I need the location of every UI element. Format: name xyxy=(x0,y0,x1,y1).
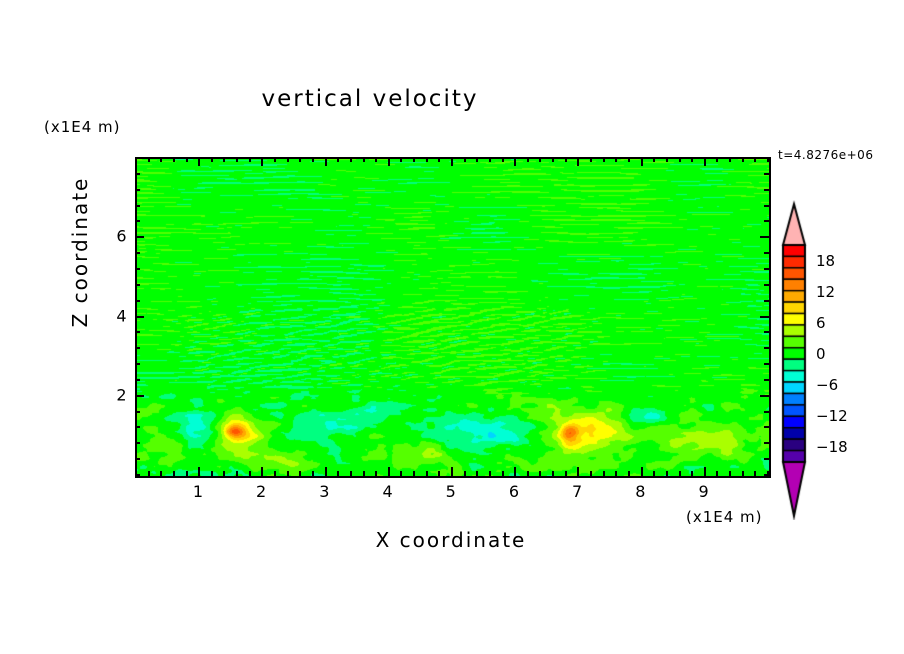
x-major-tick-top xyxy=(261,157,263,166)
x-tick-label: 9 xyxy=(698,482,709,501)
x-tick-label: 2 xyxy=(256,482,267,501)
colorbar-tick-label: 18 xyxy=(816,252,835,270)
x-minor-tick-top xyxy=(615,157,617,162)
x-minor-tick xyxy=(615,471,617,476)
x-minor-tick xyxy=(590,471,592,476)
x-tick-label: 7 xyxy=(572,482,583,501)
y-minor-tick-right xyxy=(764,458,769,460)
x-minor-tick-top xyxy=(653,157,655,162)
x-minor-tick-top xyxy=(223,157,225,162)
y-minor-tick-right xyxy=(764,252,769,254)
page-title: vertical velocity xyxy=(0,86,740,112)
x-major-tick xyxy=(261,467,263,476)
colorbar-tick-label: −6 xyxy=(816,376,838,394)
colorbar-tick-label: 0 xyxy=(816,345,826,363)
x-minor-tick xyxy=(173,471,175,476)
y-minor-tick-right xyxy=(764,426,769,428)
y-minor-tick xyxy=(135,347,140,349)
x-major-tick-top xyxy=(704,157,706,166)
y-minor-tick xyxy=(135,442,140,444)
x-minor-tick xyxy=(363,471,365,476)
plot-area[interactable] xyxy=(135,157,771,478)
y-minor-tick-right xyxy=(764,189,769,191)
x-major-tick xyxy=(704,467,706,476)
x-major-tick xyxy=(641,467,643,476)
x-tick-label: 1 xyxy=(193,482,204,501)
colorbar-gradient xyxy=(780,200,810,520)
x-minor-tick xyxy=(691,471,693,476)
colorbar-tick-label: −12 xyxy=(816,407,848,425)
x-minor-tick-top xyxy=(438,157,440,162)
x-minor-tick-top xyxy=(236,157,238,162)
x-major-tick xyxy=(388,467,390,476)
x-minor-tick xyxy=(148,471,150,476)
y-major-tick xyxy=(135,395,144,397)
y-minor-tick xyxy=(135,268,140,270)
y-major-tick-right xyxy=(760,236,769,238)
x-minor-tick xyxy=(552,471,554,476)
x-minor-tick xyxy=(742,471,744,476)
y-minor-tick xyxy=(135,173,140,175)
x-minor-tick xyxy=(400,471,402,476)
y-minor-tick xyxy=(135,220,140,222)
x-minor-tick xyxy=(729,471,731,476)
x-minor-tick-top xyxy=(691,157,693,162)
y-minor-tick-right xyxy=(764,205,769,207)
y-minor-tick-right xyxy=(764,268,769,270)
y-minor-tick-right xyxy=(764,300,769,302)
y-minor-tick xyxy=(135,426,140,428)
x-major-tick xyxy=(198,467,200,476)
x-minor-tick-top xyxy=(375,157,377,162)
y-minor-tick xyxy=(135,363,140,365)
y-major-tick xyxy=(135,236,144,238)
x-minor-tick xyxy=(666,471,668,476)
x-minor-tick-top xyxy=(716,157,718,162)
x-minor-tick-top xyxy=(274,157,276,162)
x-minor-tick-top xyxy=(502,157,504,162)
x-minor-tick xyxy=(413,471,415,476)
x-minor-tick xyxy=(603,471,605,476)
x-minor-tick-top xyxy=(552,157,554,162)
x-minor-tick-top xyxy=(628,157,630,162)
x-axis-title: X coordinate xyxy=(135,528,767,552)
x-minor-tick xyxy=(312,471,314,476)
time-annotation: t=4.8276e+06 xyxy=(778,148,873,162)
x-minor-tick xyxy=(754,471,756,476)
y-tick-label: 6 xyxy=(103,227,127,246)
x-minor-tick xyxy=(160,471,162,476)
x-minor-tick xyxy=(287,471,289,476)
y-minor-tick xyxy=(135,157,140,159)
x-minor-tick xyxy=(299,471,301,476)
y-minor-tick-right xyxy=(764,284,769,286)
x-minor-tick-top xyxy=(729,157,731,162)
x-minor-tick xyxy=(653,471,655,476)
x-minor-tick-top xyxy=(400,157,402,162)
x-tick-label: 3 xyxy=(319,482,330,501)
x-minor-tick-top xyxy=(426,157,428,162)
colorbar-tick-label: 12 xyxy=(816,283,835,301)
x-minor-tick xyxy=(489,471,491,476)
x-minor-tick-top xyxy=(565,157,567,162)
x-major-tick xyxy=(451,467,453,476)
x-minor-tick xyxy=(628,471,630,476)
y-major-tick-right xyxy=(760,395,769,397)
x-tick-label: 4 xyxy=(382,482,393,501)
x-minor-tick xyxy=(249,471,251,476)
x-minor-tick xyxy=(476,471,478,476)
x-minor-tick xyxy=(186,471,188,476)
x-minor-tick xyxy=(502,471,504,476)
x-minor-tick xyxy=(223,471,225,476)
y-major-tick-right xyxy=(760,316,769,318)
x-major-tick-top xyxy=(577,157,579,166)
y-minor-tick xyxy=(135,284,140,286)
x-minor-tick-top xyxy=(287,157,289,162)
y-minor-tick xyxy=(135,205,140,207)
x-minor-tick-top xyxy=(489,157,491,162)
x-minor-tick-top xyxy=(173,157,175,162)
y-minor-tick-right xyxy=(764,442,769,444)
x-tick-label: 8 xyxy=(635,482,646,501)
x-major-tick-top xyxy=(451,157,453,166)
y-minor-tick-right xyxy=(764,173,769,175)
x-minor-tick xyxy=(438,471,440,476)
x-minor-tick-top xyxy=(249,157,251,162)
y-minor-tick xyxy=(135,300,140,302)
x-minor-tick xyxy=(337,471,339,476)
x-minor-tick xyxy=(375,471,377,476)
y-minor-tick-right xyxy=(764,411,769,413)
y-minor-tick xyxy=(135,252,140,254)
x-major-tick-top xyxy=(641,157,643,166)
y-tick-label: 4 xyxy=(103,306,127,325)
x-minor-tick-top xyxy=(148,157,150,162)
x-minor-tick-top xyxy=(603,157,605,162)
x-minor-tick-top xyxy=(350,157,352,162)
x-minor-tick xyxy=(539,471,541,476)
x-minor-tick-top xyxy=(312,157,314,162)
y-axis-title: Z coordinate xyxy=(68,142,92,362)
x-major-tick xyxy=(577,467,579,476)
x-minor-tick-top xyxy=(413,157,415,162)
x-minor-tick-top xyxy=(754,157,756,162)
y-tick-label: 2 xyxy=(103,385,127,404)
x-major-tick xyxy=(514,467,516,476)
y-minor-tick-right xyxy=(764,474,769,476)
colorbar-tick-label: 6 xyxy=(816,314,826,332)
y-minor-tick xyxy=(135,379,140,381)
x-minor-tick xyxy=(350,471,352,476)
x-tick-label: 6 xyxy=(509,482,520,501)
x-minor-tick-top xyxy=(679,157,681,162)
x-minor-tick-top xyxy=(160,157,162,162)
y-minor-tick-right xyxy=(764,379,769,381)
y-minor-tick-right xyxy=(764,363,769,365)
y-minor-tick xyxy=(135,189,140,191)
x-minor-tick xyxy=(716,471,718,476)
x-minor-tick-top xyxy=(666,157,668,162)
velocity-field-canvas xyxy=(137,159,769,476)
y-minor-tick-right xyxy=(764,331,769,333)
x-axis-unit-label: (x1E4 m) xyxy=(686,508,763,526)
x-tick-label: 5 xyxy=(446,482,457,501)
y-minor-tick xyxy=(135,411,140,413)
x-minor-tick xyxy=(565,471,567,476)
x-major-tick xyxy=(325,467,327,476)
colorbar[interactable]: 181260−6−12−18 xyxy=(780,200,900,520)
x-minor-tick-top xyxy=(476,157,478,162)
x-major-tick-top xyxy=(325,157,327,166)
y-minor-tick-right xyxy=(764,157,769,159)
x-minor-tick-top xyxy=(186,157,188,162)
y-major-tick xyxy=(135,316,144,318)
x-minor-tick-top xyxy=(539,157,541,162)
x-minor-tick-top xyxy=(590,157,592,162)
x-major-tick-top xyxy=(514,157,516,166)
x-minor-tick-top xyxy=(299,157,301,162)
x-major-tick-top xyxy=(388,157,390,166)
y-minor-tick xyxy=(135,458,140,460)
colorbar-tick-label: −18 xyxy=(816,438,848,456)
x-major-tick-top xyxy=(198,157,200,166)
contour-plot-figure: vertical velocity (x1E4 m) t=4.8276e+06 … xyxy=(0,0,904,654)
x-minor-tick xyxy=(679,471,681,476)
x-minor-tick-top xyxy=(337,157,339,162)
x-minor-tick xyxy=(527,471,529,476)
x-minor-tick-top xyxy=(211,157,213,162)
x-minor-tick xyxy=(464,471,466,476)
x-minor-tick-top xyxy=(527,157,529,162)
x-minor-tick xyxy=(236,471,238,476)
y-minor-tick-right xyxy=(764,220,769,222)
y-minor-tick xyxy=(135,474,140,476)
y-minor-tick-right xyxy=(764,347,769,349)
z-axis-unit-label: (x1E4 m) xyxy=(44,118,121,136)
y-minor-tick xyxy=(135,331,140,333)
x-minor-tick-top xyxy=(363,157,365,162)
x-minor-tick-top xyxy=(464,157,466,162)
x-minor-tick-top xyxy=(742,157,744,162)
x-minor-tick xyxy=(274,471,276,476)
x-minor-tick xyxy=(426,471,428,476)
x-minor-tick xyxy=(211,471,213,476)
